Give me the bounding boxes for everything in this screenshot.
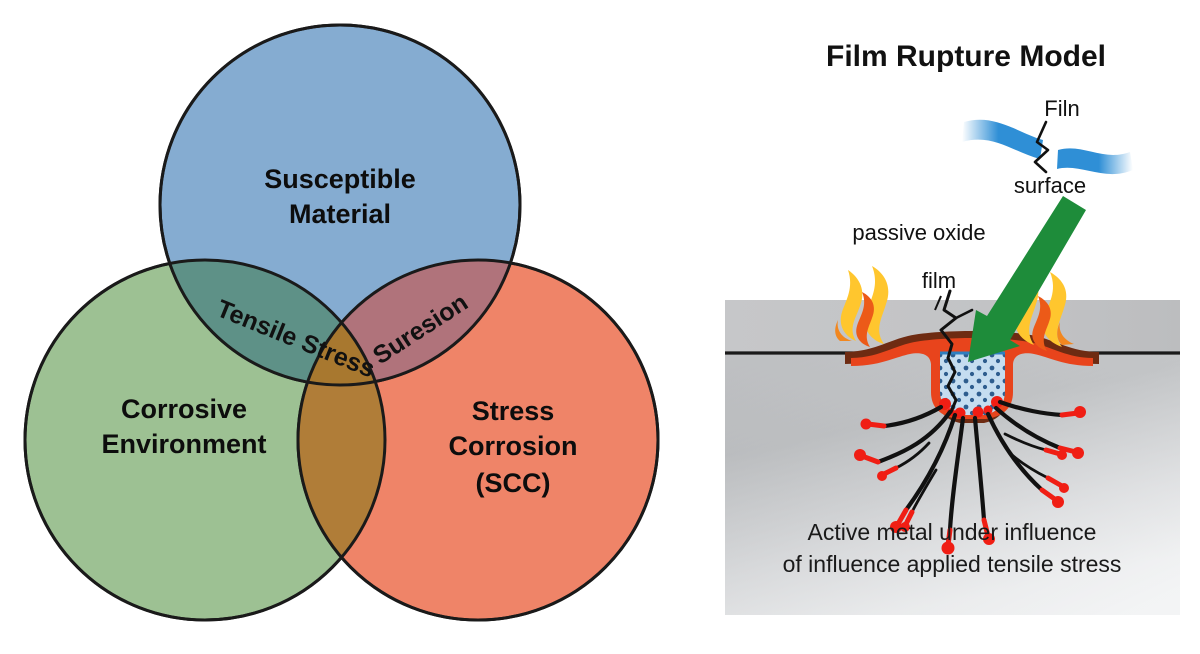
panel-title: Film Rupture Model (826, 40, 1106, 73)
film-streak-right-icon (1057, 148, 1133, 174)
figure-canvas: Susceptible Material Corrosive Environme… (0, 0, 1200, 654)
panel-caption-line2: of influence applied tensile stress (783, 551, 1122, 577)
film-streak-left-icon (962, 120, 1043, 159)
annotation-passive-oxide: passive oxide (852, 220, 985, 245)
venn-label-corrosive-environment-line1: Corrosive (121, 394, 247, 424)
venn-label-susceptible-material-line1: Susceptible (264, 164, 416, 194)
figure-root: Susceptible Material Corrosive Environme… (0, 0, 1200, 654)
venn-diagram: Susceptible Material Corrosive Environme… (25, 25, 658, 620)
venn-label-stress-corrosion-line2: Corrosion (448, 431, 577, 461)
annotation-film-top: Filn (1044, 96, 1079, 121)
venn-label-susceptible-material-line2: Material (289, 199, 391, 229)
film-rupture-model: Film Rupture Model Filn surface passive … (725, 40, 1180, 615)
venn-label-stress-corrosion-line3: (SCC) (476, 468, 551, 498)
annotation-surface: surface (1014, 173, 1086, 198)
panel-caption-line1: Active metal under influence (808, 519, 1097, 545)
venn-label-corrosive-environment-line2: Environment (101, 429, 266, 459)
annotation-film: film (922, 268, 956, 293)
venn-label-stress-corrosion-line1: Stress (472, 396, 555, 426)
